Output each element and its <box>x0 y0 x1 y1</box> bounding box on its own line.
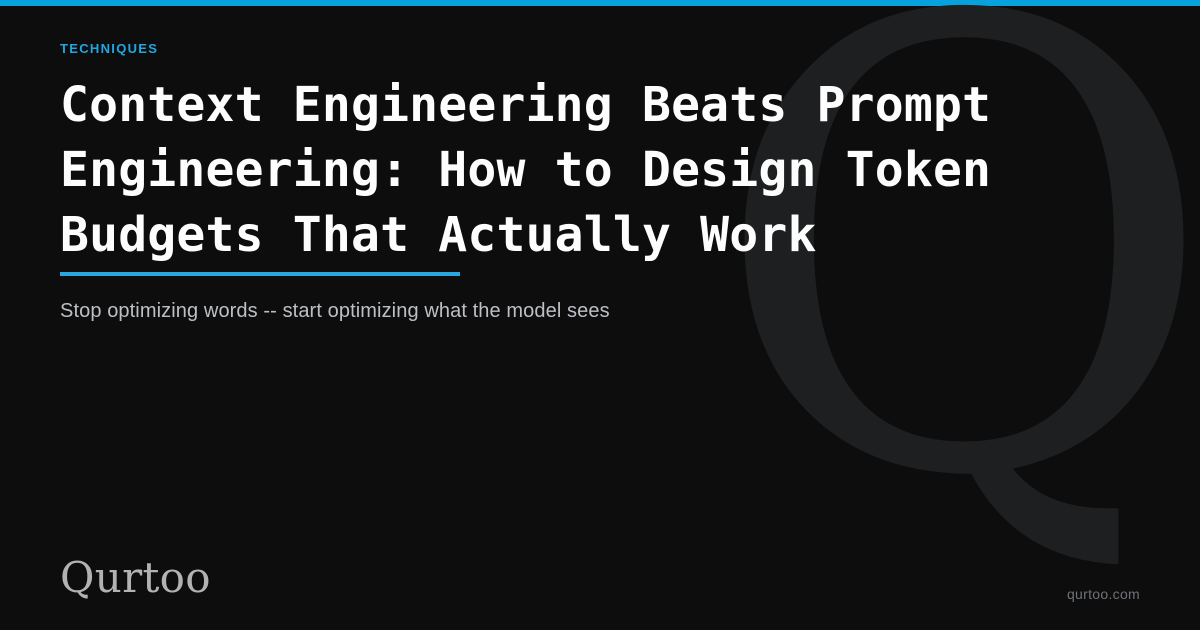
social-share-card: Q TECHNIQUES Context Engineering Beats P… <box>0 0 1200 630</box>
title-divider <box>60 272 460 276</box>
brand-logo-wordmark: Qurtoo <box>60 553 211 603</box>
category-label: TECHNIQUES <box>60 41 158 56</box>
page-subtitle: Stop optimizing words -- start optimizin… <box>60 297 960 325</box>
card-content: TECHNIQUES Context Engineering Beats Pro… <box>60 0 1140 630</box>
site-domain-label: qurtoo.com <box>1067 585 1140 603</box>
page-title: Context Engineering Beats Prompt Enginee… <box>60 73 1060 268</box>
